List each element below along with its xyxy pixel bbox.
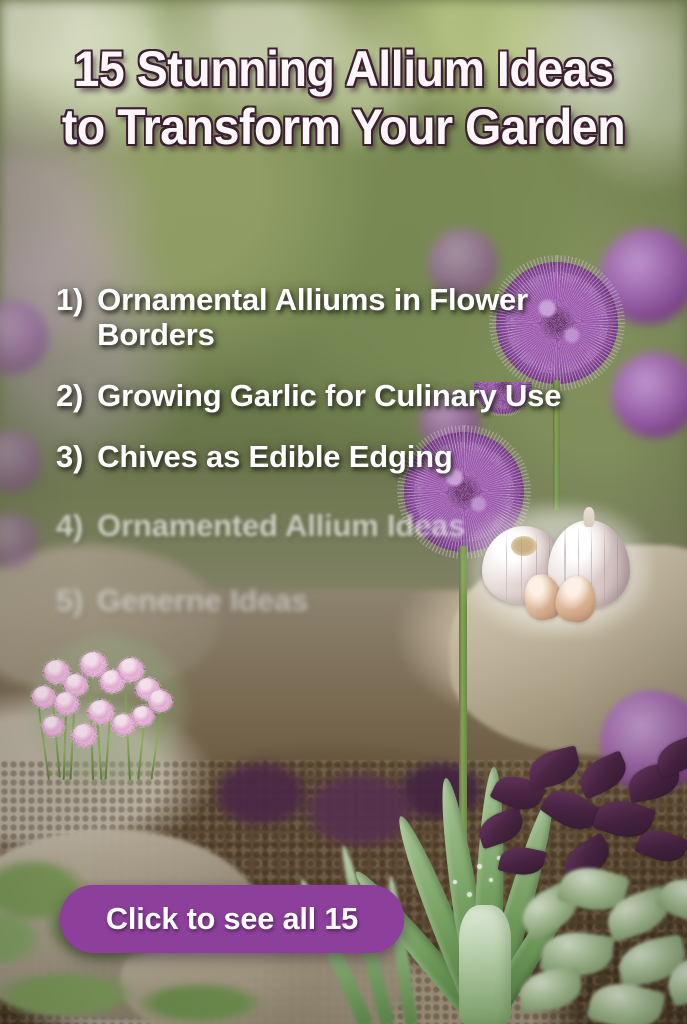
list-item: 2) Growing Garlic for Culinary Use bbox=[56, 378, 576, 413]
list-item-number: 3) bbox=[56, 439, 83, 474]
silver-leaf bbox=[586, 976, 667, 1024]
dew-drop bbox=[453, 880, 457, 884]
list-item: 3) Chives as Edible Edging bbox=[56, 439, 576, 474]
list-item-label: Growing Garlic for Culinary Use bbox=[97, 378, 576, 413]
list-item: 4) Ornamented Allium Ideas bbox=[56, 508, 576, 543]
list-item-label: Ornamented Allium Ideas bbox=[97, 508, 576, 543]
silver-leaf bbox=[518, 967, 584, 1013]
purple-leaf bbox=[474, 807, 527, 850]
groundcover-plant-bottom bbox=[0, 955, 290, 1024]
pinterest-pin-graphic: 15 Stunning Allium Ideas to Transform Yo… bbox=[0, 0, 687, 1024]
chive-bloom bbox=[32, 686, 56, 708]
chive-bloom bbox=[132, 706, 154, 726]
list-item-label: Ornamental Alliums in Flower Borders bbox=[97, 282, 576, 352]
list-item-label: Chives as Edible Edging bbox=[97, 439, 576, 474]
silver-green-foliage bbox=[520, 860, 687, 1024]
garlic-ridge bbox=[604, 525, 605, 604]
list-item-number: 1) bbox=[56, 282, 83, 317]
page-title: 15 Stunning Allium Ideas to Transform Yo… bbox=[24, 40, 663, 156]
list-item-number: 2) bbox=[56, 378, 83, 413]
purple-leaf bbox=[525, 745, 584, 791]
chive-bloom bbox=[42, 716, 64, 736]
chive-bloom bbox=[72, 724, 97, 747]
list-item-number: 5) bbox=[56, 583, 83, 618]
list-item: 1) Ornamental Alliums in Flower Borders bbox=[56, 282, 576, 352]
list-item-number: 4) bbox=[56, 508, 83, 543]
purple-leaf bbox=[574, 750, 633, 800]
garlic-neck bbox=[584, 507, 595, 527]
see-all-button[interactable]: Click to see all 15 bbox=[60, 885, 405, 953]
allium-ideas-list: 1) Ornamental Alliums in Flower Borders … bbox=[56, 282, 576, 644]
list-item-label: Generne Ideas bbox=[97, 583, 576, 618]
list-item: 5) Generne Ideas bbox=[56, 583, 576, 618]
garlic-ridge bbox=[617, 525, 618, 604]
chive-flower-cluster bbox=[28, 640, 188, 780]
